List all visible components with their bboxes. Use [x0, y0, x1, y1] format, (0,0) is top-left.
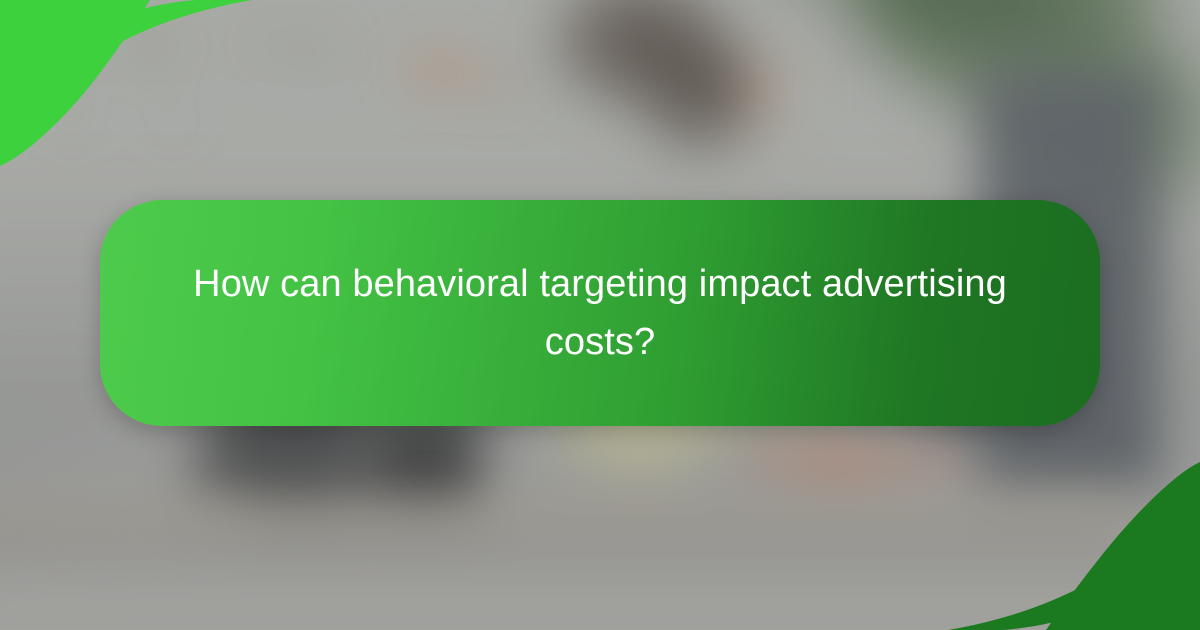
- question-text: How can behavioral targeting impact adve…: [170, 255, 1030, 371]
- social-card-canvas: How can behavioral targeting impact adve…: [0, 0, 1200, 630]
- question-card: How can behavioral targeting impact adve…: [100, 200, 1100, 426]
